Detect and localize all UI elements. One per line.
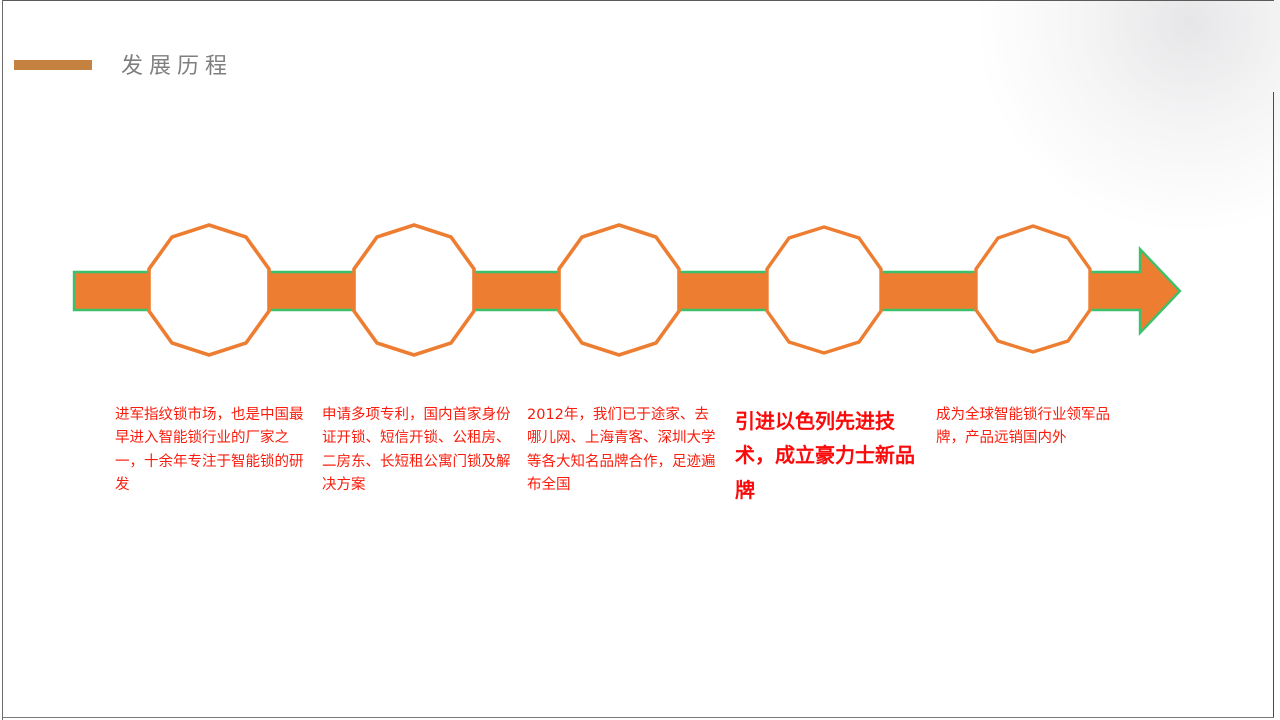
timeline-node-shape-2013[interactable]: [767, 227, 881, 353]
timeline-graphic: [0, 0, 1280, 720]
header-accent-bar: [14, 60, 92, 70]
timeline-node-shape-2006[interactable]: [149, 225, 269, 355]
timeline-node-shape-2012[interactable]: [559, 225, 679, 355]
page-title: 发展历程: [121, 48, 233, 80]
slide-frame-top: [2, 0, 1274, 1]
slide-frame-bottom: [2, 717, 1274, 718]
timeline-node-shape-future[interactable]: [976, 226, 1090, 352]
slide-header: 发展历程: [0, 48, 1280, 94]
timeline-node-shape-2008[interactable]: [354, 225, 474, 355]
slide-canvas: 发展历程 2006 2008 2012 2013 未来 10年 进军指纹锁: [0, 0, 1280, 720]
slide-frame-right: [1273, 92, 1274, 718]
slide-frame-left: [2, 0, 3, 720]
